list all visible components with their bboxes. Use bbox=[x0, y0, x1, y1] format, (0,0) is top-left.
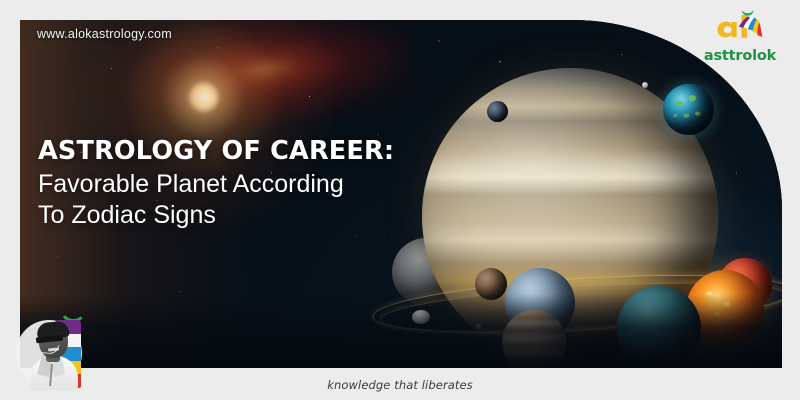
headline-line-3: To Zodiac Signs bbox=[38, 200, 458, 231]
page-title: ASTROLOGY OF CAREER: Favorable Planet Ac… bbox=[38, 136, 458, 230]
footer-tagline: knowledge that liberates bbox=[0, 378, 800, 392]
avatar bbox=[14, 304, 102, 396]
brand-logo[interactable]: asttrolok bbox=[694, 8, 786, 70]
headline-line-1: ASTROLOGY OF CAREER: bbox=[38, 136, 458, 166]
asttrolok-mark-icon bbox=[710, 8, 770, 48]
planet-blue-moon bbox=[487, 101, 508, 122]
headline-line-2: Favorable Planet According bbox=[38, 169, 458, 200]
foreground-shadow bbox=[20, 294, 782, 368]
site-url-label: www.alokastrology.com bbox=[37, 27, 172, 41]
avatar-portrait bbox=[26, 312, 80, 390]
planet-speck-moon bbox=[642, 82, 648, 88]
brand-name-label: asttrolok bbox=[694, 49, 786, 64]
banner-root: www.alokastrology.com ASTROLOGY OF CAREE… bbox=[0, 0, 800, 400]
planet-earth bbox=[663, 84, 714, 135]
